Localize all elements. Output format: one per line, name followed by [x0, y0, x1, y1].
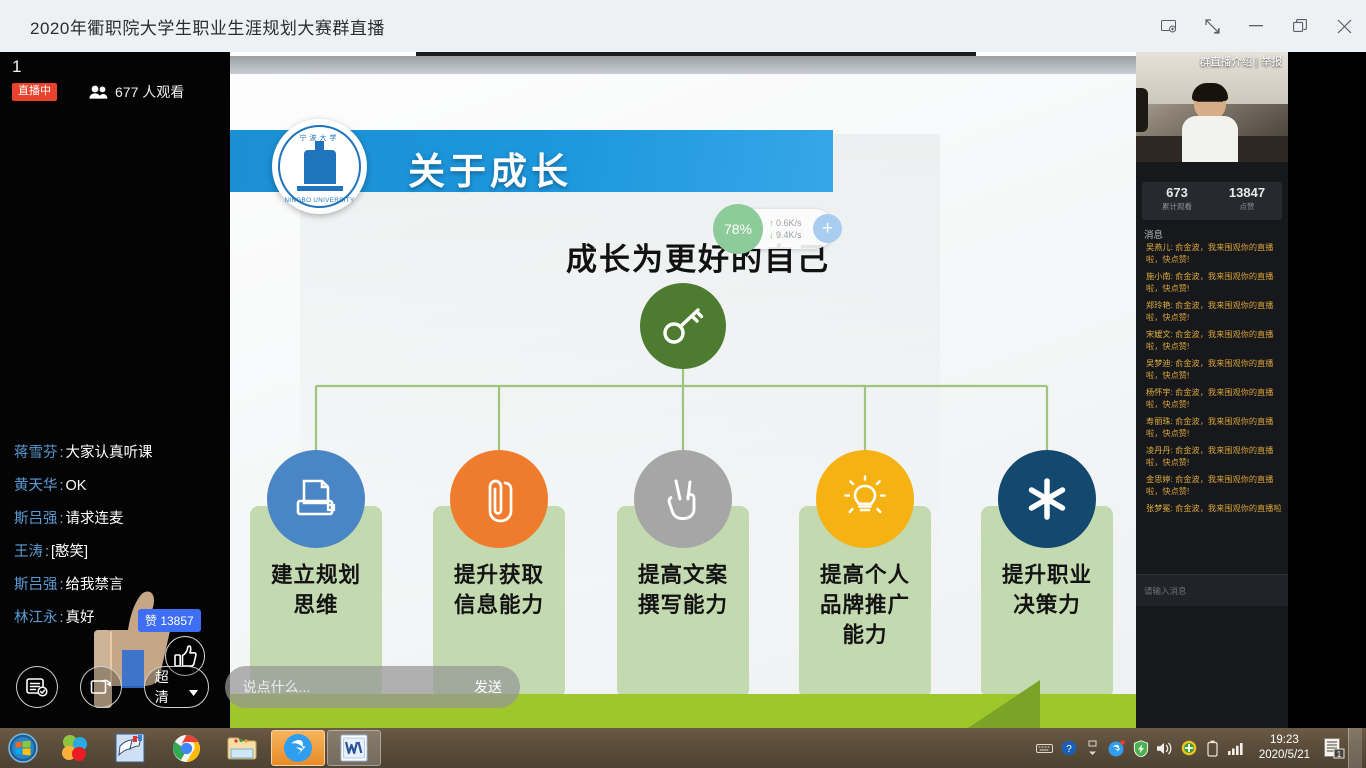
word[interactable] — [327, 730, 381, 766]
diagram-node-label: 建立规划 思维 — [250, 560, 382, 620]
network-percent: 78% — [713, 204, 763, 254]
notification-icon[interactable]: 1 — [1320, 728, 1348, 768]
windows-taskbar: ? 19:23 2020/5/21 — [0, 728, 1366, 768]
clock-time: 19:23 — [1259, 733, 1310, 748]
bottom-control-bar: 超清 说点什么... 发送 — [0, 658, 520, 716]
chevron-down-icon — [189, 683, 198, 699]
chat-sender: 王涛 — [14, 544, 43, 560]
share-screen-icon[interactable] — [80, 666, 122, 708]
question-icon[interactable]: ? — [1057, 740, 1081, 756]
message-input-box[interactable]: 说点什么... 发送 — [225, 666, 520, 708]
lightbulb-icon — [816, 450, 914, 548]
chevron-up-icon[interactable] — [1081, 740, 1105, 756]
panel-message-sender: 张梦冕: — [1146, 504, 1173, 513]
page-number: 1 — [12, 57, 21, 77]
windows-start-icon[interactable] — [0, 728, 46, 768]
taskbar-clock[interactable]: 19:23 2020/5/21 — [1259, 733, 1310, 763]
download-arrow-icon: ↓ — [769, 230, 774, 240]
report-link[interactable]: 举报 — [1261, 56, 1282, 68]
feedback-icon[interactable] — [1146, 0, 1190, 52]
signal-bars-icon[interactable] — [1225, 741, 1249, 755]
people-icon — [89, 85, 108, 99]
panel-message-sender: 凌丹丹: — [1146, 446, 1173, 455]
battery-icon[interactable] — [1201, 740, 1225, 757]
dictionary-app[interactable] — [103, 730, 157, 766]
stat-value: 673 — [1142, 185, 1212, 200]
panel-message-sender: 宋嫒文: — [1146, 330, 1173, 339]
presentation-window-edge — [230, 56, 1136, 74]
send-button[interactable]: 发送 — [474, 677, 502, 697]
panel-message: 凌丹丹: 俞金波，我来围观你的直播啦，快点赞! — [1142, 445, 1284, 468]
speaker-icon[interactable] — [1153, 741, 1177, 756]
like-count-badge[interactable]: 赞 13857 — [138, 609, 201, 632]
printer-icon — [267, 450, 365, 548]
panel-message: 杨怀宇: 俞金波，我来围观你的直播啦，快点赞! — [1142, 387, 1284, 410]
asterisk-icon — [998, 450, 1096, 548]
stat-value: 13847 — [1212, 185, 1282, 200]
panel-message-sender: 杨怀宇: — [1146, 388, 1173, 397]
window-title: 2020年衢职院大学生职业生涯规划大赛群直播 — [30, 14, 385, 39]
chat-sender: 黄天华 — [14, 478, 58, 494]
stat-caption: 点赞 — [1212, 201, 1282, 212]
upload-speed: 0.6K/s — [776, 218, 802, 228]
panel-message-sender: 郑玲艳: — [1146, 301, 1173, 310]
keyboard-icon[interactable] — [1033, 743, 1057, 754]
chrome-browser[interactable] — [159, 730, 213, 766]
chat-text: 真好 — [66, 610, 95, 626]
panel-message: 郑玲艳: 俞金波，我来围观你的直播啦，快点赞! — [1142, 300, 1284, 323]
chat-text: OK — [66, 478, 87, 494]
panel-input-placeholder: 请输入消息 — [1144, 585, 1187, 597]
diagram-node-label: 提升职业 决策力 — [981, 560, 1113, 620]
notification-count: 1 — [1337, 750, 1342, 759]
viewer-count: 677 人观看 — [89, 82, 184, 102]
network-speed-widget[interactable]: 78% ↑ 0.6K/s ↓ 9.4K/s + — [717, 209, 834, 249]
panel-header: 群直播介绍|举报 — [1136, 54, 1288, 69]
chat-message: 黄天华:OK — [14, 470, 226, 503]
panel-message-sender: 吴燕儿: — [1146, 243, 1173, 252]
presentation-top-strip — [416, 52, 976, 56]
download-speed: 9.4K/s — [776, 230, 802, 240]
messages-section-label: 消息 — [1144, 227, 1163, 241]
live-status-badge: 直播中 — [12, 83, 57, 100]
right-panel: 群直播介绍|举报 673 累计观看 13847 点赞 消息 吴燕儿: 俞金波，我… — [1136, 52, 1288, 728]
minimize-icon[interactable] — [1234, 0, 1278, 52]
shared-screen: 关于成长 宁波大学 NINGBO UNIVERSITY 成长为更好的自己 — [230, 52, 1136, 728]
dingtalk-tray-icon[interactable] — [1105, 740, 1129, 757]
panel-message-text: 俞金波，我来围观你的直播啦 — [1175, 504, 1281, 513]
dingtalk[interactable] — [271, 730, 325, 766]
panel-message: 吴燕儿: 俞金波，我来围观你的直播啦，快点赞! — [1142, 242, 1284, 265]
message-input-placeholder: 说点什么... — [243, 677, 474, 697]
chat-sender: 斯吕强 — [14, 511, 58, 527]
chat-text: 大家认真听课 — [66, 445, 153, 461]
window-title-bar: 2020年衢职院大学生职业生涯规划大赛群直播 — [0, 0, 1366, 52]
file-explorer[interactable] — [215, 730, 269, 766]
panel-message: 吴梦迪: 俞金波，我来围观你的直播啦，快点赞! — [1142, 358, 1284, 381]
live-stage: 1 直播中 677 人观看 蒋雪芬:大家认真听课 黄天华:OK 斯吕强:请求连麦… — [0, 52, 1366, 728]
chat-sender: 蒋雪芬 — [14, 445, 58, 461]
restore-icon[interactable] — [1278, 0, 1322, 52]
panel-message: 寿丽珠: 俞金波，我来围观你的直播啦，快点赞! — [1142, 416, 1284, 439]
panel-stats: 673 累计观看 13847 点赞 — [1142, 182, 1282, 220]
stat-likes: 13847 点赞 — [1212, 182, 1282, 220]
chat-sender: 林江永 — [14, 610, 58, 626]
panel-message-sender: 金思婷: — [1146, 475, 1173, 484]
quality-selector[interactable]: 超清 — [144, 666, 209, 708]
upload-arrow-icon: ↑ — [769, 218, 774, 228]
diagram-node-label: 提高个人 品牌推广 能力 — [799, 560, 931, 650]
header-separator: | — [1255, 56, 1258, 68]
diagram-node-label: 提高文案 撰写能力 — [617, 560, 749, 620]
viewer-count-label: 677 人观看 — [115, 82, 184, 102]
intro-link[interactable]: 群直播介绍 — [1200, 56, 1253, 68]
slide-footer-wedge — [968, 680, 1040, 728]
quick-launch-circles[interactable] — [47, 730, 101, 766]
panel-message: 金思婷: 俞金波，我来围观你的直播啦，快点赞! — [1142, 474, 1284, 497]
panel-message-list[interactable]: 吴燕儿: 俞金波，我来围观你的直播啦，快点赞! 施小南: 俞金波，我来围观你的直… — [1142, 242, 1284, 552]
stat-caption: 累计观看 — [1142, 201, 1212, 212]
chat-text: [憨笑] — [51, 544, 88, 560]
live-status-row: 直播中 677 人观看 — [12, 82, 184, 102]
panel-message-sender: 吴梦迪: — [1146, 359, 1173, 368]
show-desktop-button[interactable] — [1348, 728, 1362, 768]
svg-text:?: ? — [1066, 744, 1072, 755]
panel-message: 张梦冕: 俞金波，我来围观你的直播啦 — [1142, 503, 1284, 515]
paperclip-icon — [450, 450, 548, 548]
diagram-node-label: 提升获取 信息能力 — [433, 560, 565, 620]
quality-label: 超清 — [155, 667, 183, 707]
chat-sender: 斯吕强 — [14, 577, 58, 593]
chat-message: 蒋雪芬:大家认真听课 — [14, 437, 226, 470]
panel-message: 施小南: 俞金波，我来围观你的直播啦，快点赞! — [1142, 271, 1284, 294]
panel-message-sender: 寿丽珠: — [1146, 417, 1173, 426]
panel-message: 宋嫒文: 俞金波，我来围观你的直播啦，快点赞! — [1142, 329, 1284, 352]
stat-views: 673 累计观看 — [1142, 182, 1212, 220]
clock-date: 2020/5/21 — [1259, 748, 1310, 763]
chat-text: 请求连麦 — [66, 511, 124, 527]
panel-message-sender: 施小南: — [1146, 272, 1173, 281]
notes-icon[interactable] — [16, 666, 58, 708]
system-tray: ? 19:23 2020/5/21 — [1033, 728, 1366, 768]
window-controls — [1146, 0, 1366, 52]
panel-message-input[interactable]: 请输入消息 — [1136, 574, 1288, 606]
plus-circle-icon[interactable] — [1177, 740, 1201, 756]
expand-icon[interactable] — [1190, 0, 1234, 52]
shield-icon[interactable] — [1129, 740, 1153, 757]
add-icon[interactable]: + — [813, 214, 842, 243]
network-speeds: ↑ 0.6K/s ↓ 9.4K/s — [769, 217, 802, 241]
chat-message: 斯吕强:请求连麦 — [14, 503, 226, 536]
victory-hand-icon — [634, 450, 732, 548]
close-icon[interactable] — [1322, 0, 1366, 52]
key-icon — [640, 283, 726, 369]
